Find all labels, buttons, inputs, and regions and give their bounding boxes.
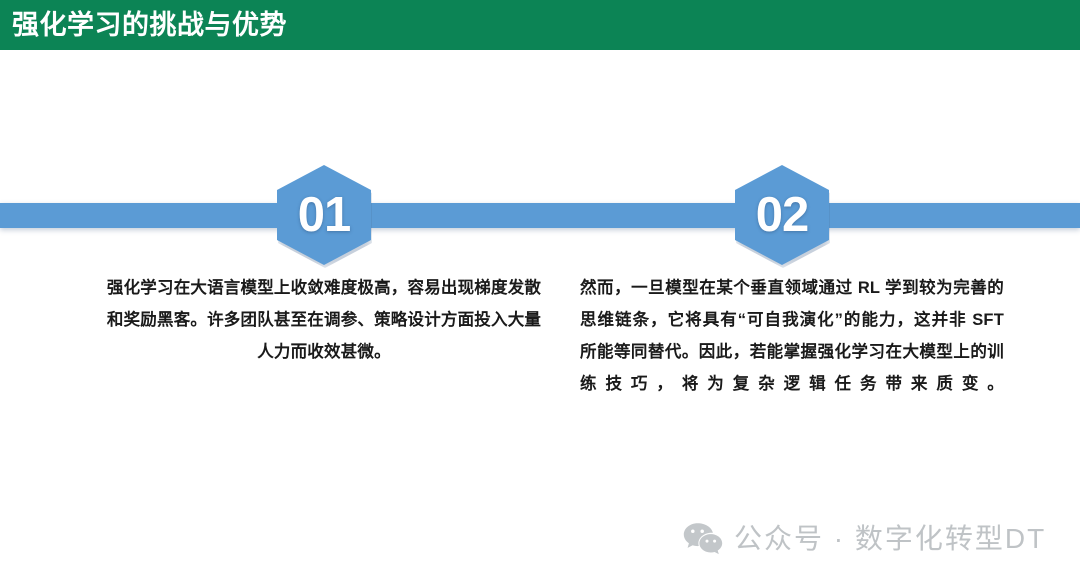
hexagon-badge-1-number: 01 xyxy=(298,191,351,240)
watermark-text: 公众号 · 数字化转型DT xyxy=(734,525,1046,553)
content-block-1: 强化学习在大语言模型上收敛难度极高，容易出现梯度发散和奖励黑客。许多团队甚至在调… xyxy=(105,272,543,368)
hexagon-badge-2-number: 02 xyxy=(756,191,809,240)
wechat-icon xyxy=(683,522,723,556)
slide-title-banner: 强化学习的挑战与优势 xyxy=(0,0,1080,50)
timeline-rail xyxy=(0,203,1080,228)
page-title: 强化学习的挑战与优势 xyxy=(12,12,287,39)
content-block-2: 然而，一旦模型在某个垂直领域通过 RL 学到较为完善的思维链条，它将具有“可自我… xyxy=(580,272,1004,400)
footer-watermark: 公众号 · 数字化转型DT xyxy=(683,522,1046,556)
